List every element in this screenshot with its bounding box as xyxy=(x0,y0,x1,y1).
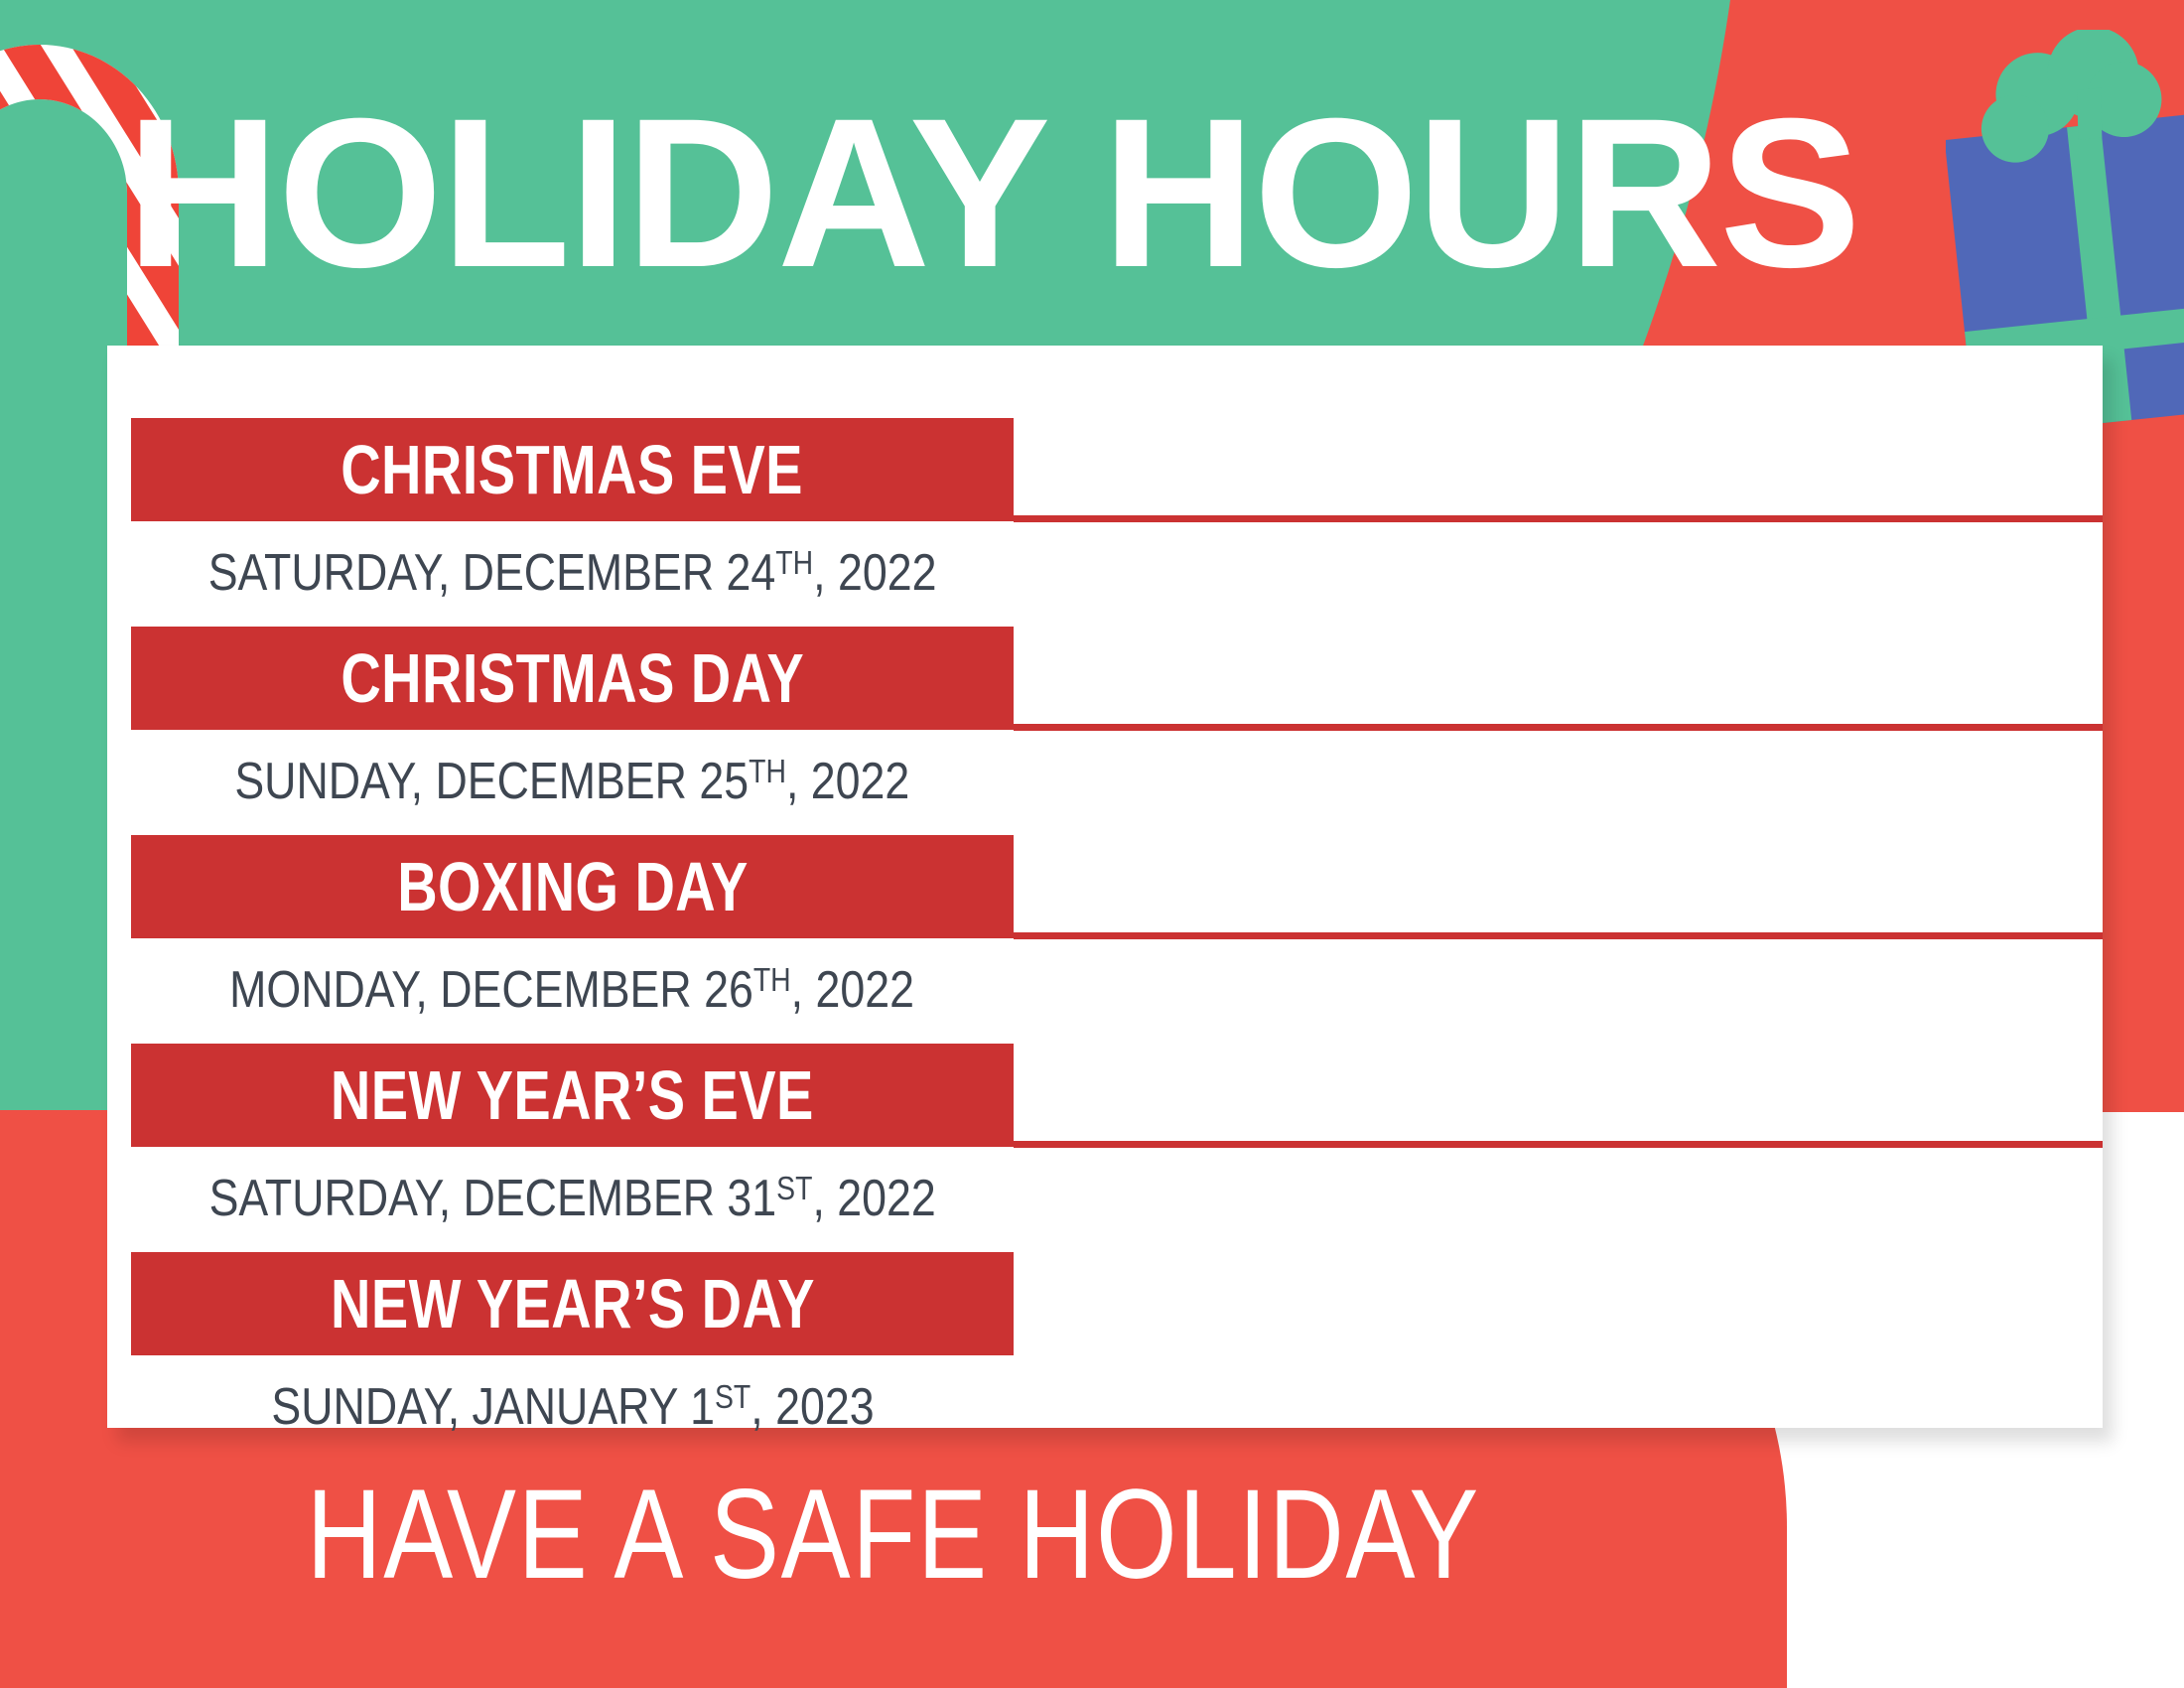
date-prefix: SUNDAY, DECEMBER 25 xyxy=(235,753,750,810)
date-prefix: SATURDAY, DECEMBER 24 xyxy=(208,544,776,602)
row-divider-rule xyxy=(1014,932,2103,939)
holiday-name: CHRISTMAS DAY xyxy=(341,643,804,713)
holiday-date: SUNDAY, DECEMBER 25TH, 2022 xyxy=(131,734,1014,819)
hours-row: NEW YEAR’S DAY SUNDAY, JANUARY 1ST, 2023 xyxy=(131,1252,2103,1463)
hours-row: CHRISTMAS DAY SUNDAY, DECEMBER 25TH, 202… xyxy=(131,627,2103,837)
row-divider-rule xyxy=(1014,1141,2103,1148)
hours-row: BOXING DAY MONDAY, DECEMBER 26TH, 2022 xyxy=(131,835,2103,1046)
date-suffix: , 2022 xyxy=(812,1170,935,1227)
date-ordinal: TH xyxy=(753,961,791,998)
hours-row: CHRISTMAS EVE SATURDAY, DECEMBER 24TH, 2… xyxy=(131,418,2103,629)
holiday-hours-poster: HOLIDAY HOURS CHRISTMAS EVE SATURDAY, DE… xyxy=(0,0,2184,1688)
date-ordinal: ST xyxy=(776,1170,812,1206)
date-ordinal: TH xyxy=(749,753,786,789)
holiday-name-bar: CHRISTMAS DAY xyxy=(131,627,1014,730)
holiday-name: NEW YEAR’S DAY xyxy=(331,1269,815,1338)
footer-message: HAVE A SAFE HOLIDAY xyxy=(0,1472,1787,1599)
hours-list: CHRISTMAS EVE SATURDAY, DECEMBER 24TH, 2… xyxy=(107,346,2103,1428)
holiday-name: BOXING DAY xyxy=(397,852,749,921)
footer-message-text: HAVE A SAFE HOLIDAY xyxy=(307,1472,1480,1599)
holiday-date: MONDAY, DECEMBER 26TH, 2022 xyxy=(131,942,1014,1028)
date-prefix: MONDAY, DECEMBER 26 xyxy=(230,961,754,1019)
hours-card: CHRISTMAS EVE SATURDAY, DECEMBER 24TH, 2… xyxy=(107,346,2103,1428)
date-suffix: , 2022 xyxy=(813,544,936,602)
page-title: HOLIDAY HOURS xyxy=(0,87,1985,300)
date-suffix: , 2022 xyxy=(791,961,914,1019)
date-prefix: SUNDAY, JANUARY 1 xyxy=(271,1378,715,1436)
holiday-date: SATURDAY, DECEMBER 31ST, 2022 xyxy=(131,1151,1014,1236)
holiday-date: SATURDAY, DECEMBER 24TH, 2022 xyxy=(131,525,1014,611)
row-divider-rule xyxy=(1014,724,2103,731)
hours-row: NEW YEAR’S EVE SATURDAY, DECEMBER 31ST, … xyxy=(131,1044,2103,1254)
date-suffix: , 2022 xyxy=(786,753,909,810)
holiday-name-bar: NEW YEAR’S EVE xyxy=(131,1044,1014,1147)
date-ordinal: TH xyxy=(775,544,813,581)
holiday-name: NEW YEAR’S EVE xyxy=(331,1060,814,1130)
holiday-date: SUNDAY, JANUARY 1ST, 2023 xyxy=(131,1359,1014,1445)
date-prefix: SATURDAY, DECEMBER 31 xyxy=(208,1170,776,1227)
date-suffix: , 2023 xyxy=(751,1378,874,1436)
holiday-name-bar: CHRISTMAS EVE xyxy=(131,418,1014,521)
date-ordinal: ST xyxy=(714,1378,750,1415)
row-divider-rule xyxy=(1014,515,2103,522)
holiday-name-bar: BOXING DAY xyxy=(131,835,1014,938)
holiday-name-bar: NEW YEAR’S DAY xyxy=(131,1252,1014,1355)
holiday-name: CHRISTMAS EVE xyxy=(341,435,804,504)
